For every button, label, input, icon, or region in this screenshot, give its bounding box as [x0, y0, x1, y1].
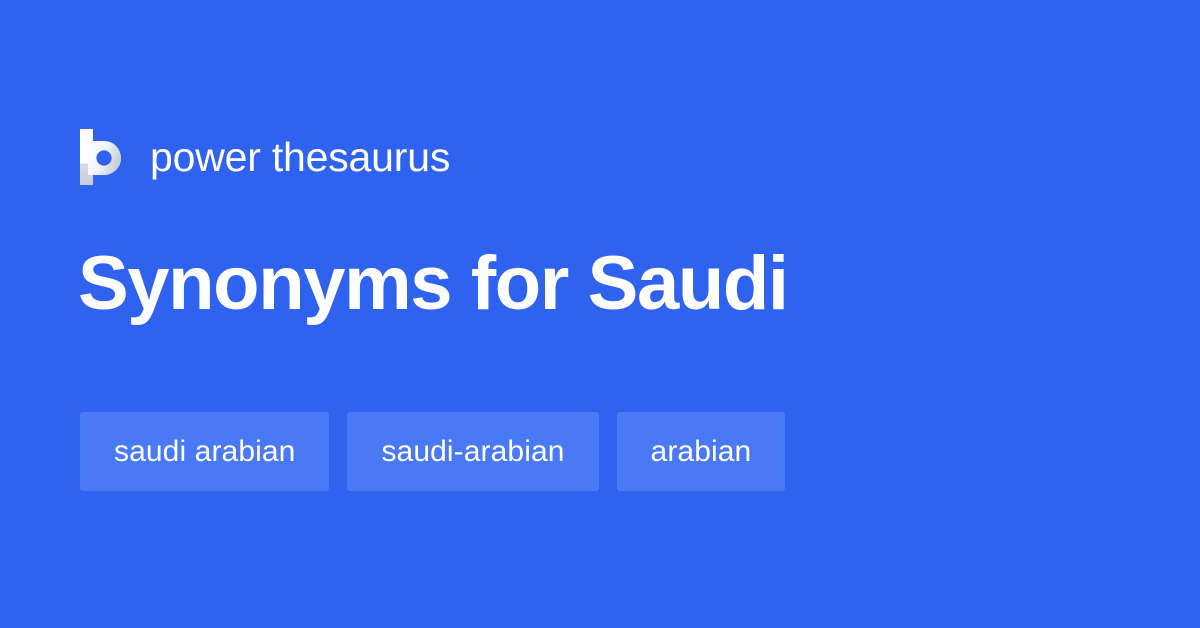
synonym-chip-list: saudi arabian saudi-arabian arabian [80, 412, 785, 491]
brand-lockup[interactable]: power thesaurus [80, 126, 450, 188]
synonym-chip[interactable]: arabian [617, 412, 786, 491]
synonym-chip[interactable]: saudi arabian [80, 412, 329, 491]
brand-name: power thesaurus [150, 137, 450, 178]
synonym-preview-card: power thesaurus Synonyms for Saudi saudi… [0, 0, 1200, 628]
page-title: Synonyms for Saudi [78, 246, 788, 322]
synonym-chip[interactable]: saudi-arabian [347, 412, 598, 491]
power-thesaurus-b-logo-icon [80, 129, 125, 185]
